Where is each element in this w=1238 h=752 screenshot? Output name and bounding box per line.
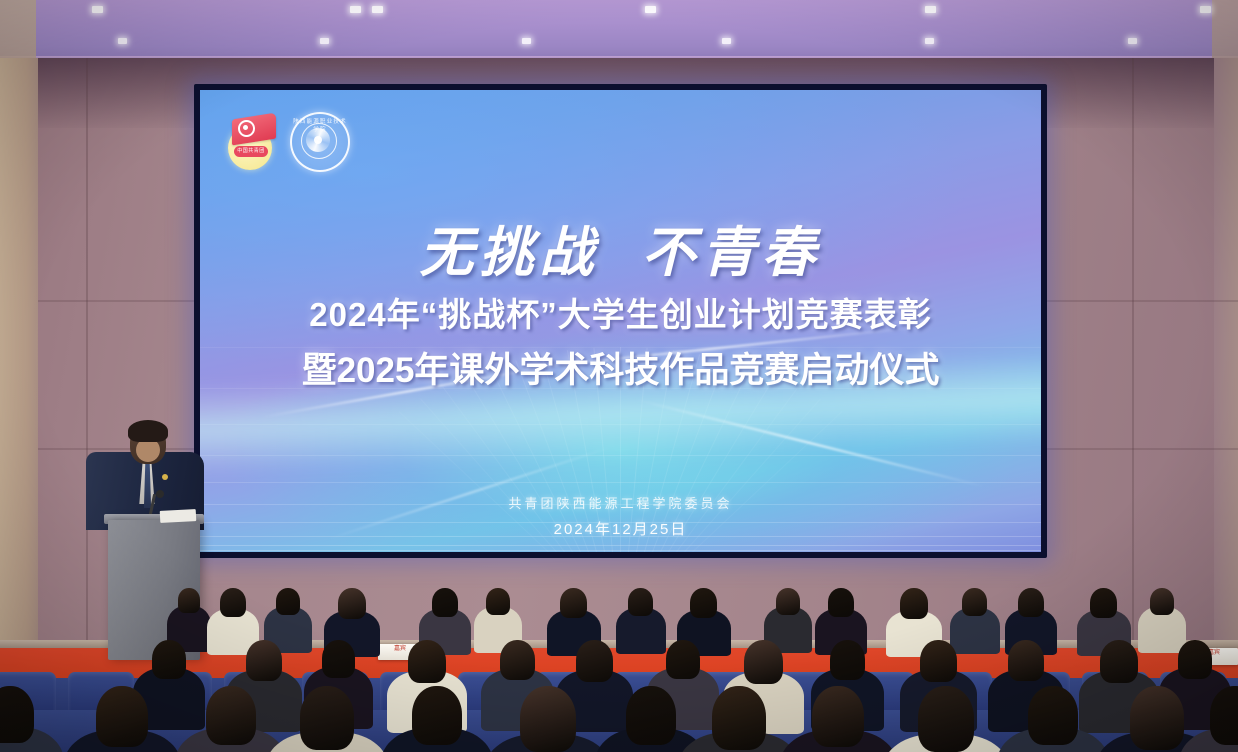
ceiling-light <box>722 38 731 44</box>
audience-member-head <box>962 588 987 616</box>
ceiling-light <box>320 38 329 44</box>
ceiling <box>0 0 1238 62</box>
screen-organizer: 共青团陕西能源工程学院委员会 <box>200 493 1041 512</box>
audience-member-head <box>220 588 246 617</box>
audience-member-head <box>576 640 613 682</box>
speech-papers <box>160 509 197 523</box>
audience-member-head <box>1028 686 1078 745</box>
speaker-lapel-pin-icon <box>162 474 168 480</box>
audience-area <box>0 560 1238 752</box>
ceiling-light <box>925 6 936 13</box>
auditorium-photo: 中国共青团 陕西能源职业技术学院 无挑战不青春 2024年“挑战杯”大学生创业计… <box>0 0 1238 752</box>
slogan-right: 不青春 <box>642 223 822 283</box>
audience-member-head <box>828 588 854 617</box>
audience-member-head <box>206 686 256 745</box>
communist-youth-league-emblem-icon: 中国共青团 <box>224 114 280 170</box>
speaker-hair <box>128 420 168 442</box>
audience-member-head <box>412 686 462 745</box>
microphone-head-icon <box>156 490 164 498</box>
audience-member-head <box>812 686 864 747</box>
audience-member-head <box>744 640 783 684</box>
audience-member-head <box>776 588 800 615</box>
audience-member-head <box>626 686 676 745</box>
audience-member-head <box>152 640 186 679</box>
audience-member-head <box>628 588 653 616</box>
audience-member-head <box>1130 686 1184 750</box>
audience-member-head <box>1090 588 1117 618</box>
audience-member-head <box>560 588 587 618</box>
audience-member-head <box>830 640 865 680</box>
ceiling-light <box>118 38 127 44</box>
audience-member-head <box>918 686 974 752</box>
wall-seam <box>38 300 194 302</box>
screen-slogan: 无挑战不青春 <box>200 208 1041 287</box>
screen-subtitle-line2: 暨2025年课外学术科技作品竞赛启动仪式 <box>200 342 1041 393</box>
ceiling-light <box>645 6 656 13</box>
ceiling-light <box>1200 6 1211 13</box>
audience-member-head <box>1100 640 1138 683</box>
wall-seam <box>1047 300 1238 302</box>
audience-member-head <box>432 588 458 617</box>
audience-member-head <box>690 588 717 618</box>
audience-member-head <box>1018 588 1044 617</box>
audience-member-head <box>1008 640 1044 681</box>
ceiling-light <box>350 6 361 13</box>
ceiling-light <box>522 38 531 44</box>
screen-subtitle-line1: 2024年“挑战杯”大学生创业计划竞赛表彰 <box>200 288 1041 336</box>
audience-member-head <box>1178 640 1212 679</box>
audience-member-head <box>500 640 535 680</box>
screen-date: 2024年12月25日 <box>200 518 1041 539</box>
wall-seam <box>38 448 194 450</box>
school-seal-emblem-icon: 陕西能源职业技术学院 <box>290 112 350 172</box>
audience-member-head <box>712 686 766 750</box>
led-screen: 中国共青团 陕西能源职业技术学院 无挑战不青春 2024年“挑战杯”大学生创业计… <box>200 90 1041 552</box>
audience-member-head <box>1150 588 1174 615</box>
ceiling-light <box>1128 38 1137 44</box>
audience-member-head <box>246 640 282 681</box>
audience-member-head <box>920 640 957 682</box>
audience-member-head <box>276 588 300 615</box>
audience-member-head <box>900 588 928 619</box>
ceiling-light <box>925 38 934 44</box>
ceiling-light <box>92 6 103 13</box>
wall-seam <box>1047 448 1238 450</box>
audience-member-head <box>338 588 366 619</box>
audience-member-head <box>96 686 148 747</box>
screen-logo-group: 中国共青团 陕西能源职业技术学院 <box>224 112 350 172</box>
cyl-band-label: 中国共青团 <box>234 146 268 157</box>
audience-member-head <box>486 588 510 615</box>
audience-member-head <box>322 640 355 678</box>
slogan-left: 无挑战 <box>420 223 600 283</box>
audience-member-head <box>520 686 576 752</box>
audience-member-head <box>178 588 200 613</box>
audience-member-head <box>666 640 700 679</box>
ceiling-light <box>372 6 383 13</box>
audience-member-head <box>300 686 354 750</box>
audience-member-head <box>408 640 446 683</box>
